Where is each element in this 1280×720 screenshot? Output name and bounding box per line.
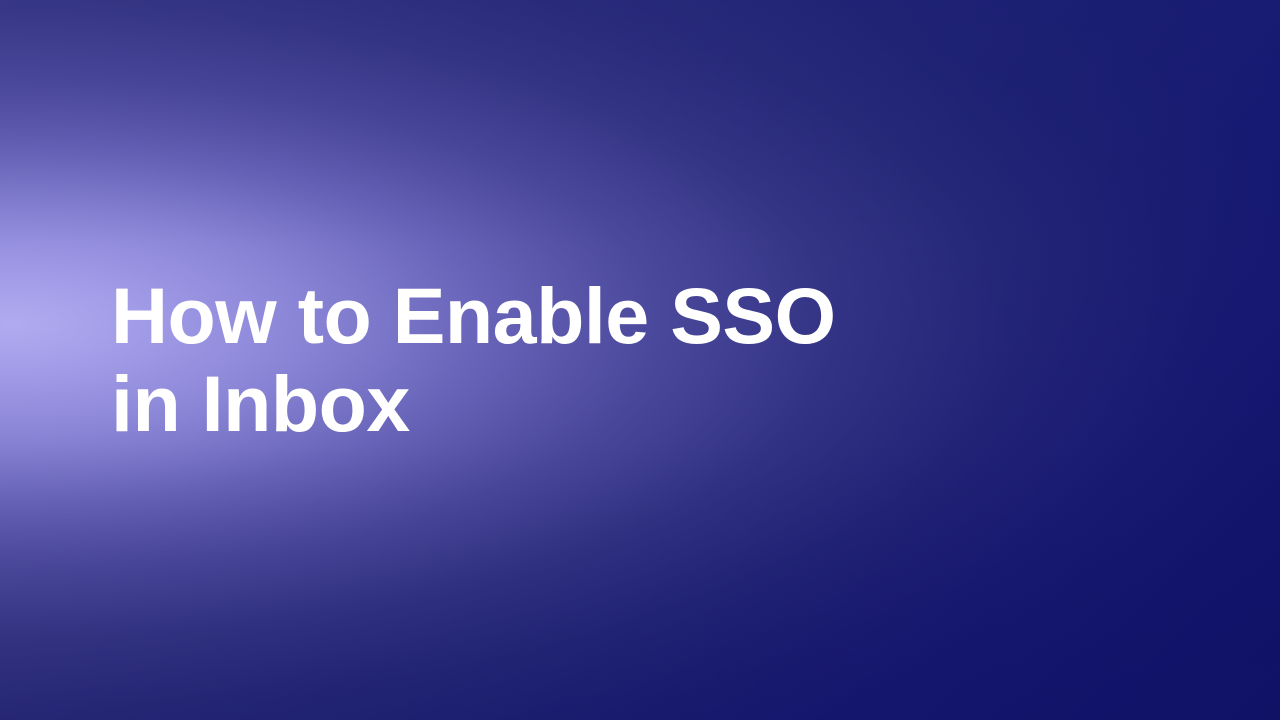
title-slide: How to Enable SSO in Inbox [0,0,1280,720]
page-title: How to Enable SSO in Inbox [111,272,891,448]
page-title-line-2: in Inbox [111,360,891,448]
page-title-line-1: How to Enable SSO [111,272,891,360]
